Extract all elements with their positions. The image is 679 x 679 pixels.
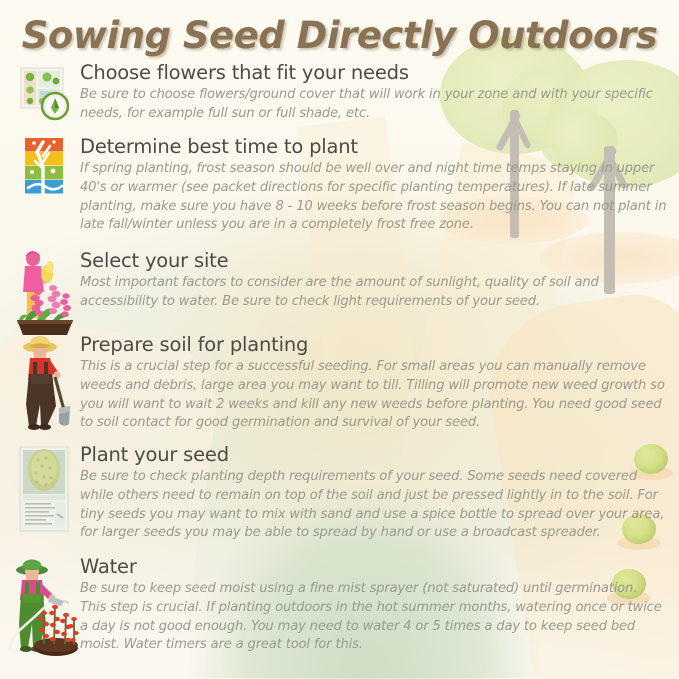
step-heading: Choose flowers that fit your needs: [80, 62, 667, 84]
step-icon-wrap: [8, 444, 80, 534]
step-prepare-soil: Prepare soil for planting This is a cruc…: [8, 334, 671, 433]
step-icon-wrap: [8, 136, 80, 196]
step-body: This is a crucial step for a successful …: [80, 358, 667, 432]
step-text-wrap: Water Be sure to keep seed moist using a…: [80, 556, 671, 655]
flower-planter-icon: [11, 250, 77, 338]
step-body: Be sure to choose flowers/ground cover t…: [80, 86, 667, 123]
step-heading: Water: [80, 556, 667, 578]
step-text-wrap: Plant your seed Be sure to check plantin…: [80, 444, 671, 543]
gardener-watering-icon: [8, 556, 80, 656]
step-icon-wrap: [8, 62, 80, 124]
step-determine-time: Determine best time to plant If spring p…: [8, 136, 671, 235]
step-heading: Plant your seed: [80, 444, 667, 466]
step-text-wrap: Select your site Most important factors …: [80, 250, 671, 312]
step-heading: Prepare soil for planting: [80, 334, 667, 356]
page-title: Sowing Seed Directly Outdoors: [0, 14, 679, 57]
step-plant-seed: Plant your seed Be sure to check plantin…: [8, 444, 671, 543]
step-choose-flowers: Choose flowers that fit your needs Be su…: [8, 62, 671, 124]
step-water: Water Be sure to keep seed moist using a…: [8, 556, 671, 656]
step-icon-wrap: [8, 334, 80, 430]
step-body: Be sure to keep seed moist using a fine …: [80, 580, 667, 654]
step-icon-wrap: [8, 556, 80, 656]
seed-packet-icon: [13, 444, 75, 534]
step-heading: Select your site: [80, 250, 667, 272]
garden-plan-compass-icon: [14, 62, 74, 124]
gardener-with-shovel-icon: [14, 334, 74, 430]
four-seasons-icon: [18, 136, 70, 196]
step-icon-wrap: [8, 250, 80, 338]
steps-list: Choose flowers that fit your needs Be su…: [0, 0, 679, 679]
step-body: Most important factors to consider are t…: [80, 274, 667, 311]
step-text-wrap: Prepare soil for planting This is a cruc…: [80, 334, 671, 433]
step-body: If spring planting, frost season should …: [80, 160, 667, 234]
step-body: Be sure to check planting depth requirem…: [80, 468, 667, 542]
step-text-wrap: Choose flowers that fit your needs Be su…: [80, 62, 671, 124]
infographic-poster: Sowing Seed Directly Outdoors: [0, 0, 679, 679]
step-text-wrap: Determine best time to plant If spring p…: [80, 136, 671, 235]
step-select-site: Select your site Most important factors …: [8, 250, 671, 338]
step-heading: Determine best time to plant: [80, 136, 667, 158]
